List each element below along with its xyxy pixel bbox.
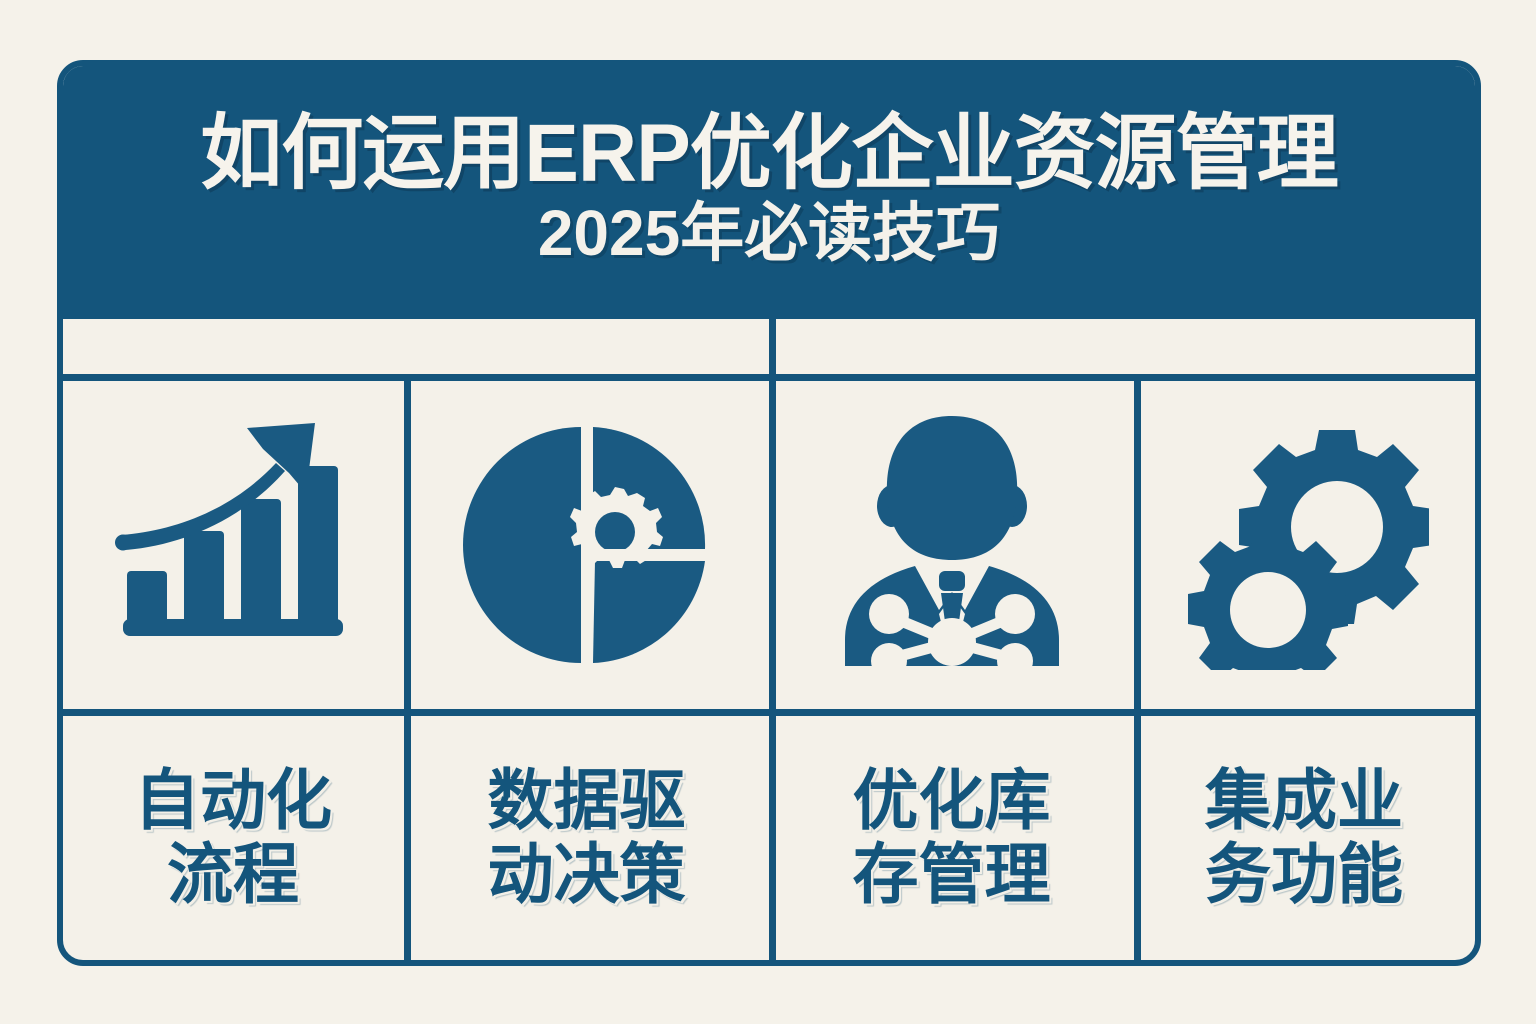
feature-icon-cell-1[interactable] [62,381,404,709]
feature-label-2: 数据驱动决策 [462,764,712,912]
feature-icon-cell-4[interactable] [1134,381,1474,709]
feature-label-4: 集成业务功能 [1179,764,1429,912]
feature-label-1: 自动化流程 [108,764,358,912]
page-title: 如何运用ERP优化企业资源管理 [200,112,1338,196]
business-person-network-icon [829,414,1075,676]
growth-bar-chart-icon [113,423,353,668]
infographic-card: 如何运用ERP优化企业资源管理 2025年必读技巧 [57,60,1481,966]
label-row: 自动化流程 数据驱动决策 优化库存管理 集成业务功能 [62,716,1476,960]
pie-chart-gear-icon [461,419,713,671]
feature-grid: 自动化流程 数据驱动决策 优化库存管理 集成业务功能 [62,319,1476,960]
page-subtitle: 2025年必读技巧 [538,201,1000,266]
feature-label-cell-4[interactable]: 集成业务功能 [1134,716,1474,960]
feature-label-cell-1[interactable]: 自动化流程 [62,716,404,960]
feature-label-cell-2[interactable]: 数据驱动决策 [404,716,769,960]
two-gears-icon [1179,420,1429,670]
header-banner: 如何运用ERP优化企业资源管理 2025年必读技巧 [62,65,1476,319]
icon-row [62,381,1476,709]
feature-icon-cell-3[interactable] [769,381,1134,709]
feature-icon-cell-2[interactable] [404,381,769,709]
feature-label-cell-3[interactable]: 优化库存管理 [769,716,1134,960]
feature-label-3: 优化库存管理 [827,764,1077,912]
